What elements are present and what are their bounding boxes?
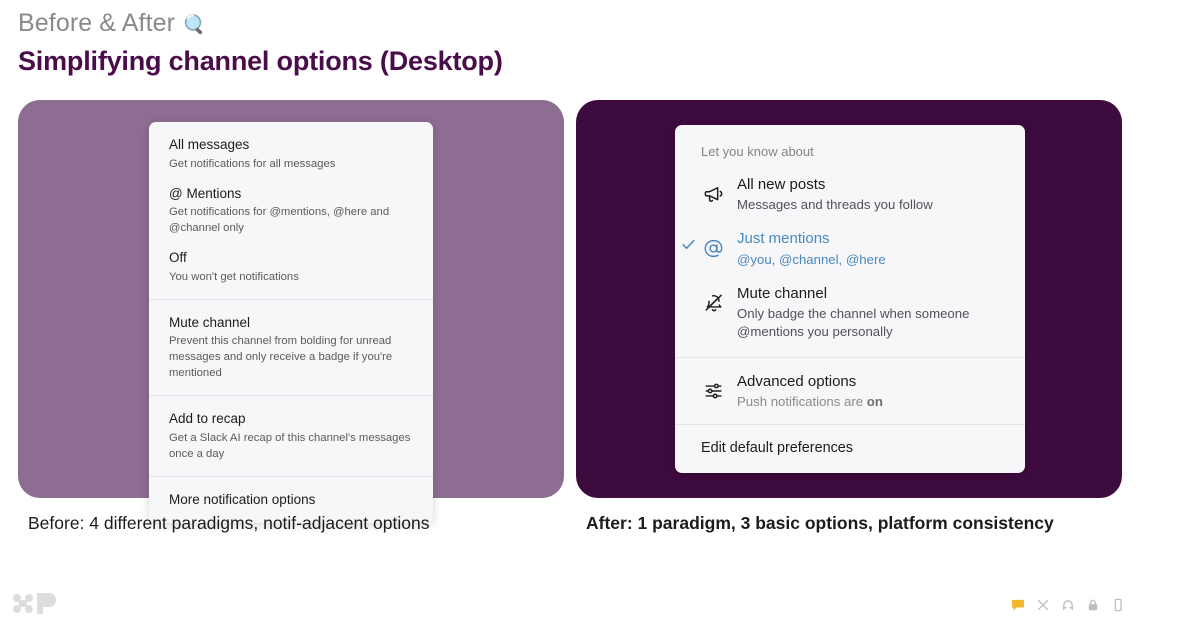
shortcut-command-icon (1036, 598, 1050, 612)
menu-item-description: @you, @channel, @here (737, 251, 1003, 269)
bell-muted-icon (695, 283, 725, 314)
menu-item-body: Just mentions @you, @channel, @here (737, 228, 1003, 268)
menu-item-title: Advanced options (737, 372, 1003, 392)
menu-item-off[interactable]: Off You won't get notifications (169, 249, 413, 285)
menu-item-mentions[interactable]: @ Mentions Get notifications for @mentio… (169, 185, 413, 237)
menu-item-title: Just mentions (737, 229, 1003, 249)
before-menu-card: All messages Get notifications for all m… (149, 122, 433, 523)
menu-item-description: Only badge the channel when someone @men… (737, 305, 1003, 341)
menu-item-description: Get notifications for @mentions, @here a… (169, 204, 411, 236)
menu-item-title: Mute channel (169, 314, 413, 332)
megaphone-icon (695, 174, 725, 205)
header: Before & After Simplifying channel optio… (18, 8, 503, 78)
menu-item-title: All messages (169, 136, 413, 154)
menu-item-description: You won't get notifications (169, 269, 411, 285)
at-mention-icon (695, 228, 725, 260)
menu-item-mute-channel[interactable]: Mute channel Prevent this channel from b… (169, 314, 413, 382)
after-menu-list: All new posts Messages and threads you f… (675, 167, 1025, 353)
menu-item-add-to-recap[interactable]: Add to recap Get a Slack AI recap of thi… (169, 410, 413, 462)
menu-item-all-messages[interactable]: All messages Get notifications for all m… (169, 136, 413, 172)
menu-item-all-new-posts[interactable]: All new posts Messages and threads you f… (675, 167, 1025, 221)
magnifying-glass-icon (182, 12, 208, 38)
menu-item-advanced-options[interactable]: Advanced options Push notifications are … (675, 358, 1025, 424)
menu-item-body: Advanced options Push notifications are … (737, 371, 1003, 411)
section-label-let-you-know-about: Let you know about (675, 125, 1025, 167)
menu-item-edit-default-preferences[interactable]: Edit default preferences (675, 424, 1025, 473)
after-menu-card: Let you know about All new posts (675, 125, 1025, 473)
comparison-panels: All messages Get notifications for all m… (18, 100, 1182, 498)
panel-captions: Before: 4 different paradigms, notif-adj… (18, 512, 1182, 535)
menu-item-description: Get a Slack AI recap of this channel's m… (169, 430, 411, 462)
menu-item-title: Add to recap (169, 410, 413, 428)
check-icon (681, 237, 696, 252)
menu-item-description: Push notifications are on (737, 393, 1003, 411)
page-title: Simplifying channel options (Desktop) (18, 45, 503, 77)
eyebrow-label: Before & After (18, 8, 175, 39)
menu-item-mute-channel[interactable]: Mute channel Only badge the channel when… (675, 276, 1025, 349)
menu-item-body: All new posts Messages and threads you f… (737, 174, 1003, 214)
speech-bubble-icon (1011, 598, 1025, 612)
before-menu-group: Mute channel Prevent this channel from b… (149, 299, 433, 396)
sliders-icon (695, 371, 725, 402)
caption-after: After: 1 paradigm, 3 basic options, plat… (576, 512, 1122, 535)
footer-icon-strip (1011, 598, 1125, 612)
slide-root: Before & After Simplifying channel optio… (0, 0, 1200, 630)
menu-item-description: Get notifications for all messages (169, 156, 411, 172)
before-menu-group: Add to recap Get a Slack AI recap of thi… (149, 395, 433, 476)
magnet-icon (1061, 598, 1075, 612)
mobile-device-icon (1111, 598, 1125, 612)
menu-item-title: Mute channel (737, 284, 1003, 304)
lock-icon (1086, 598, 1100, 612)
menu-item-just-mentions[interactable]: Just mentions @you, @channel, @here (675, 221, 1025, 275)
before-menu-group: All messages Get notifications for all m… (149, 122, 433, 299)
menu-item-title: @ Mentions (169, 185, 413, 203)
menu-item-description: Messages and threads you follow (737, 196, 1003, 214)
footer-brand-logo (8, 590, 60, 616)
menu-item-body: Mute channel Only badge the channel when… (737, 283, 1003, 342)
menu-item-description: Prevent this channel from bolding for un… (169, 333, 411, 381)
after-panel: Let you know about All new posts (576, 100, 1122, 498)
caption-before: Before: 4 different paradigms, notif-adj… (18, 512, 564, 535)
menu-item-title: All new posts (737, 175, 1003, 195)
before-panel: All messages Get notifications for all m… (18, 100, 564, 498)
eyebrow: Before & After (18, 8, 503, 39)
advanced-desc-state: on (867, 394, 883, 409)
advanced-desc-prefix: Push notifications are (737, 394, 867, 409)
menu-item-title: Off (169, 249, 413, 267)
